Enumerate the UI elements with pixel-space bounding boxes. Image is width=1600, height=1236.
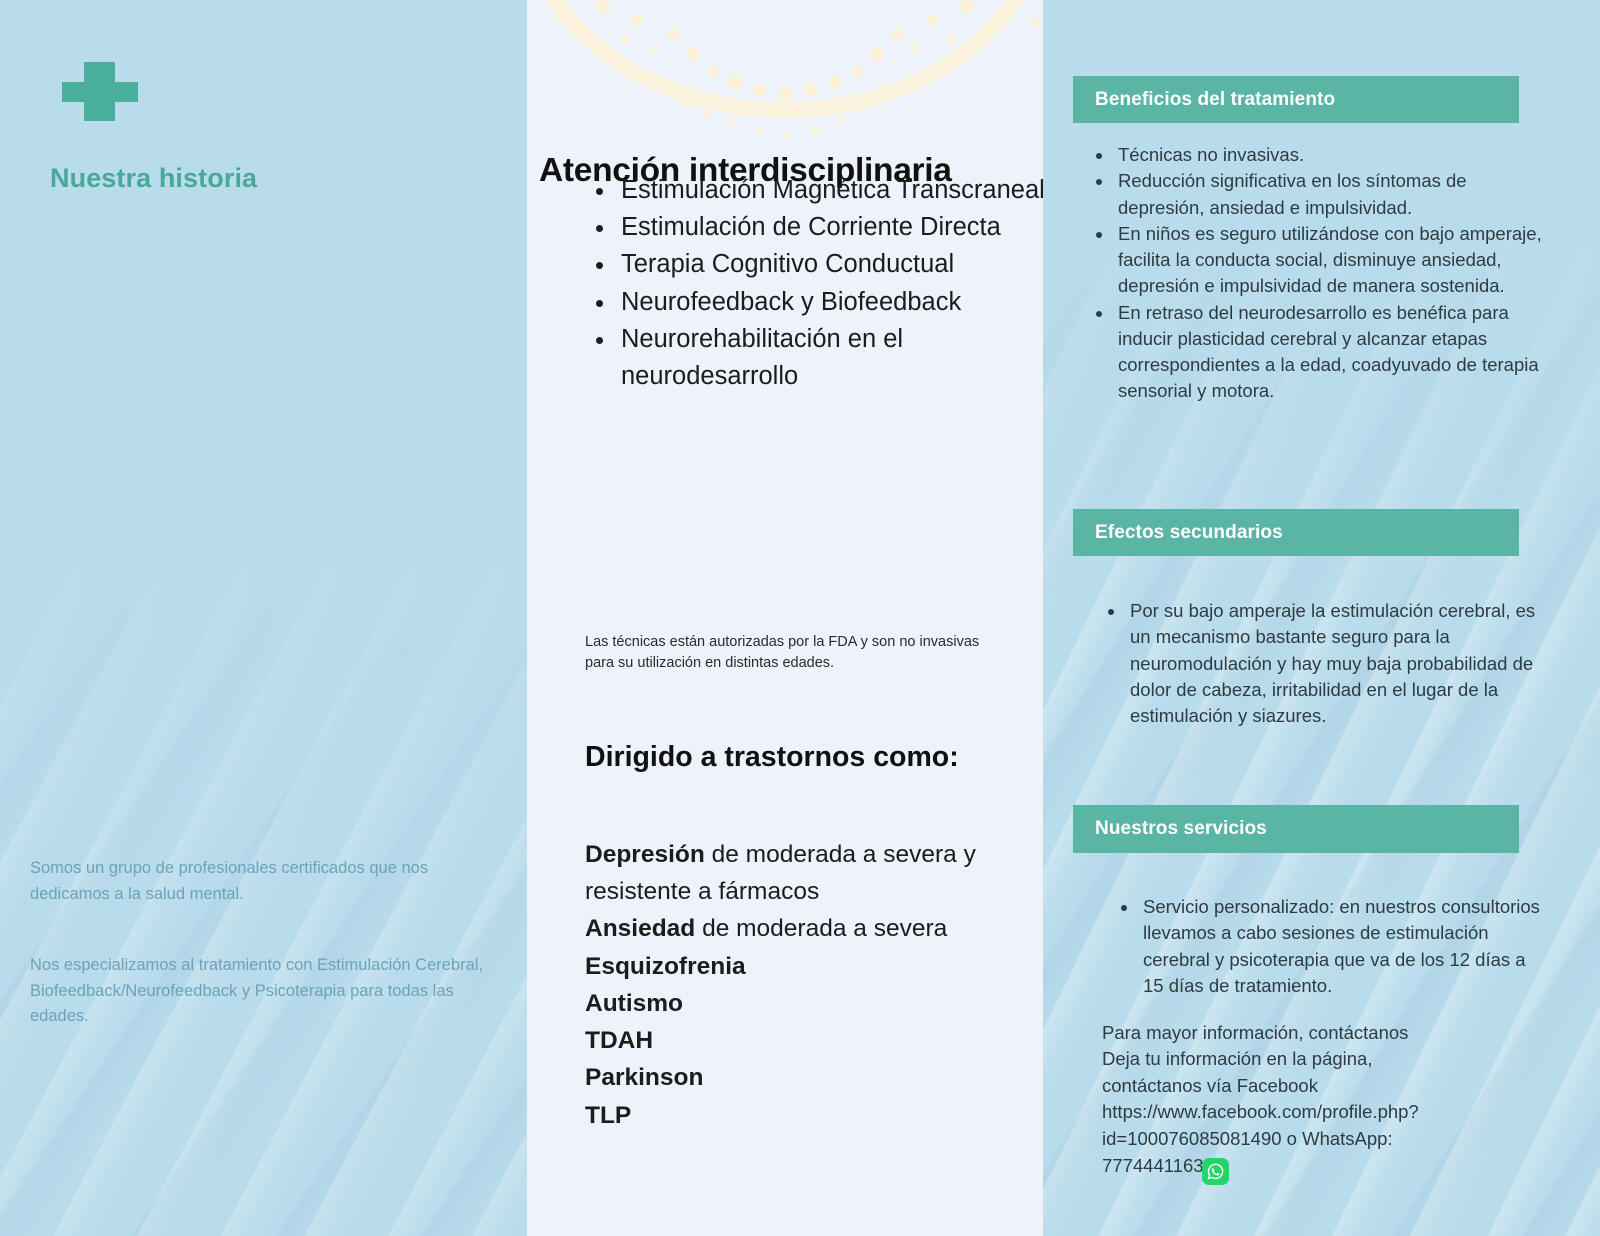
list-item: Técnicas no invasivas. — [1114, 142, 1544, 168]
contact-line: contáctanos vía Facebook — [1102, 1073, 1522, 1099]
list-item: Neurofeedback y Biofeedback — [617, 284, 1043, 321]
disorder-name: Ansiedad — [585, 915, 695, 942]
contact-line: Para mayor información, contáctanos — [1102, 1020, 1522, 1046]
section-header-servicios: Nuestros servicios — [1073, 805, 1519, 853]
disorder-name: Esquizofrenia — [585, 953, 746, 980]
brochure-page: Nuestra historia Somos un grupo de profe… — [0, 0, 1600, 1236]
disorder-entry: Depresión de moderada a severa y resiste… — [585, 841, 976, 905]
disorder-entry: Ansiedad de moderada a severa — [585, 915, 947, 942]
center-panel-content: Atención interdisciplinaria Estimulación… — [527, 0, 1043, 1236]
left-panel: Nuestra historia Somos un grupo de profe… — [0, 0, 527, 1236]
section-header-efectos: Efectos secundarios — [1073, 509, 1519, 556]
contact-line: Deja tu información en la página, — [1102, 1046, 1522, 1072]
servicios-list: Servicio personalizado: en nuestros cons… — [1113, 894, 1549, 999]
list-item: Terapia Cognitivo Conductual — [617, 246, 1043, 283]
whatsapp-icon[interactable] — [1202, 1158, 1229, 1185]
list-item: Por su bajo amperaje la estimulación cer… — [1126, 598, 1538, 729]
disorder-name: Parkinson — [585, 1064, 703, 1091]
disorder-entry: Parkinson — [585, 1064, 703, 1091]
list-item: Neurorehabilitación en el neurodesarroll… — [617, 321, 1043, 395]
list-item: En niños es seguro utilizándose con bajo… — [1114, 221, 1544, 300]
disorders-list: Depresión de moderada a severa y resiste… — [585, 836, 1005, 1134]
techniques-list: Estimulación Magnética Transcraneal Esti… — [591, 172, 1043, 395]
about-paragraph-2: Nos especializamos al tratamiento con Es… — [30, 953, 498, 1030]
disorder-entry: Esquizofrenia — [585, 953, 746, 980]
beneficios-list: Técnicas no invasivas. Reducción signifi… — [1088, 142, 1544, 405]
efectos-list: Por su bajo amperaje la estimulación cer… — [1100, 598, 1538, 729]
section-title: Nuestros servicios — [1095, 818, 1267, 840]
medical-cross-icon — [62, 62, 138, 121]
whatsapp-number[interactable]: 7774441163 — [1102, 1153, 1204, 1179]
disorder-name: TDAH — [585, 1027, 653, 1054]
whatsapp-phone-line[interactable]: 7774441163 — [1102, 1152, 1229, 1179]
list-item: Servicio personalizado: en nuestros cons… — [1139, 894, 1549, 999]
disorder-name: TLP — [585, 1102, 631, 1129]
facebook-url-line-1[interactable]: https://www.facebook.com/profile.php? — [1102, 1099, 1522, 1125]
cross-horizontal-bar — [62, 82, 138, 102]
about-paragraph-1: Somos un grupo de profesionales certific… — [30, 856, 498, 907]
disorder-name: Depresión — [585, 841, 705, 868]
disorder-detail: de moderada a severa — [695, 915, 947, 942]
center-panel: Atención interdisciplinaria Estimulación… — [527, 0, 1043, 1236]
facebook-url-line-2[interactable]: id=100076085081490 o WhatsApp: — [1102, 1126, 1522, 1152]
center-subheading: Dirigido a trastornos como: — [585, 739, 985, 777]
disorder-entry: TDAH — [585, 1027, 653, 1054]
list-item: En retraso del neurodesarrollo es benéfi… — [1114, 300, 1544, 405]
section-header-beneficios: Beneficios del tratamiento — [1073, 76, 1519, 123]
left-panel-body: Somos un grupo de profesionales certific… — [30, 856, 498, 1030]
section-title: Beneficios del tratamiento — [1095, 89, 1335, 111]
section-title: Efectos secundarios — [1095, 522, 1283, 544]
fda-disclaimer: Las técnicas están autorizadas por la FD… — [585, 632, 985, 676]
list-item: Estimulación Magnética Transcraneal — [617, 172, 1043, 209]
left-panel-title: Nuestra historia — [50, 163, 257, 194]
disorder-entry: Autismo — [585, 990, 683, 1017]
disorder-name: Autismo — [585, 990, 683, 1017]
disorder-entry: TLP — [585, 1102, 631, 1129]
list-item: Estimulación de Corriente Directa — [617, 209, 1043, 246]
list-item: Reducción significativa en los síntomas … — [1114, 168, 1544, 221]
contact-block: Para mayor información, contáctanos Deja… — [1102, 1020, 1522, 1179]
